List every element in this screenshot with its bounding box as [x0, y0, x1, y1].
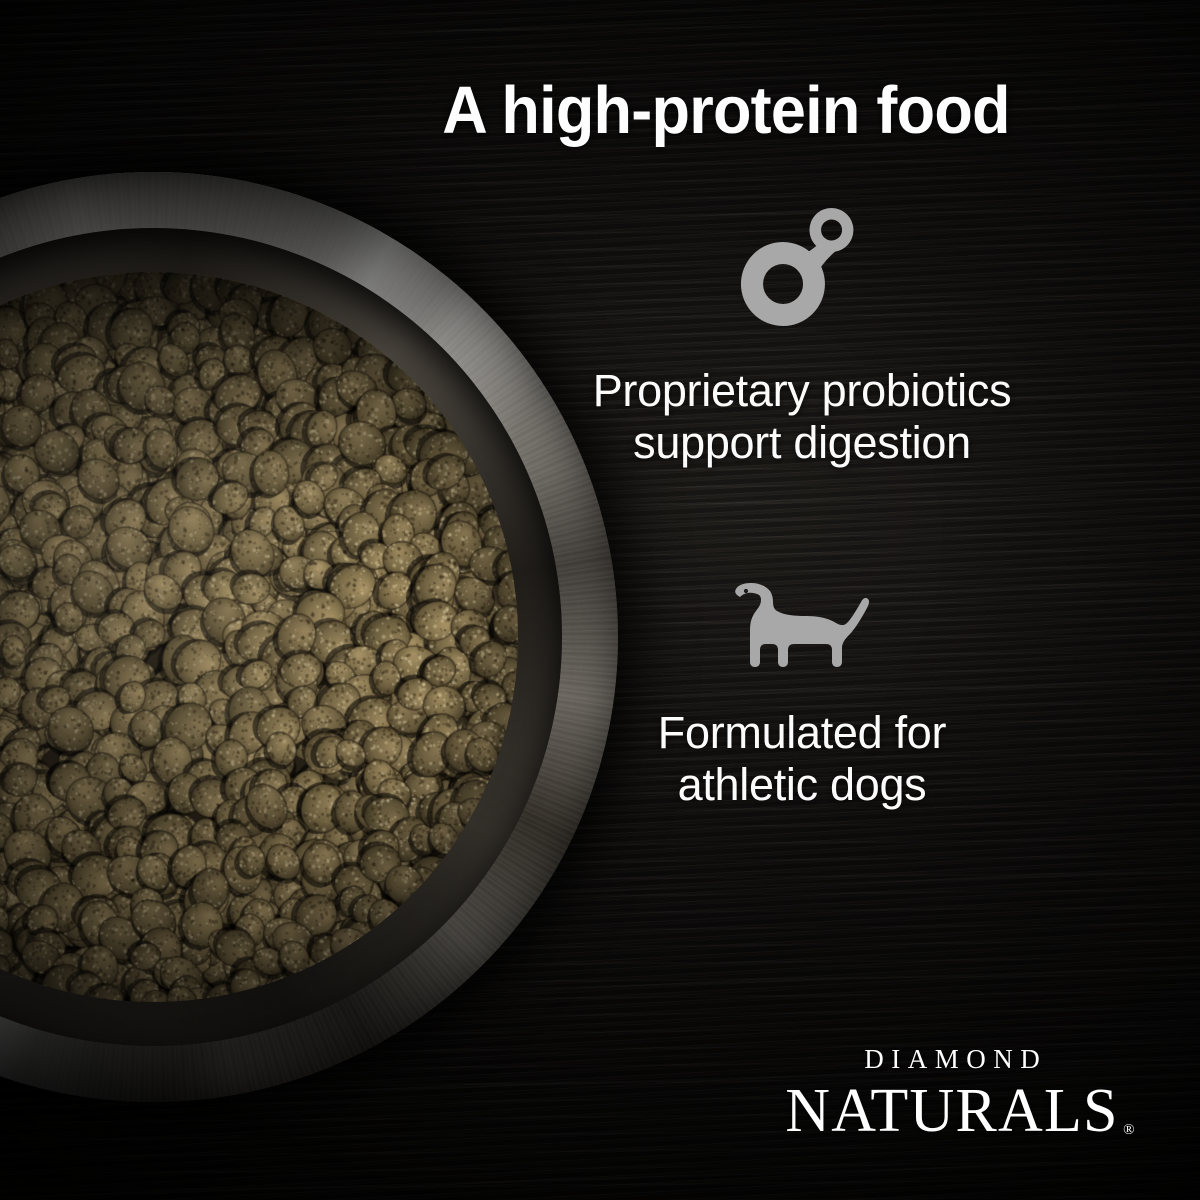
registered-trademark-icon: ®	[1123, 1123, 1136, 1138]
brand-logo-diamond: DIAMOND	[752, 1046, 1152, 1073]
product-feature-ad: A high-protein food Proprietary probioti…	[0, 0, 1200, 1200]
feature-probiotics-label: Proprietary probiotics support digestion	[452, 365, 1152, 469]
brand-logo: DIAMOND NATURALS ®	[752, 1046, 1152, 1144]
brand-logo-naturals: NATURALS ®	[785, 1079, 1118, 1144]
feature-probiotics: Proprietary probiotics support digestion	[452, 206, 1152, 469]
feature-athletic-dogs: Formulated for athletic dogs	[452, 578, 1152, 811]
dog-silhouette-icon	[452, 578, 1152, 673]
feature-athletic-label: Formulated for athletic dogs	[452, 707, 1152, 811]
page-title: A high-protein food	[326, 76, 1127, 146]
brand-logo-naturals-text: NATURALS	[785, 1077, 1118, 1145]
probiotics-icon	[452, 206, 1152, 335]
